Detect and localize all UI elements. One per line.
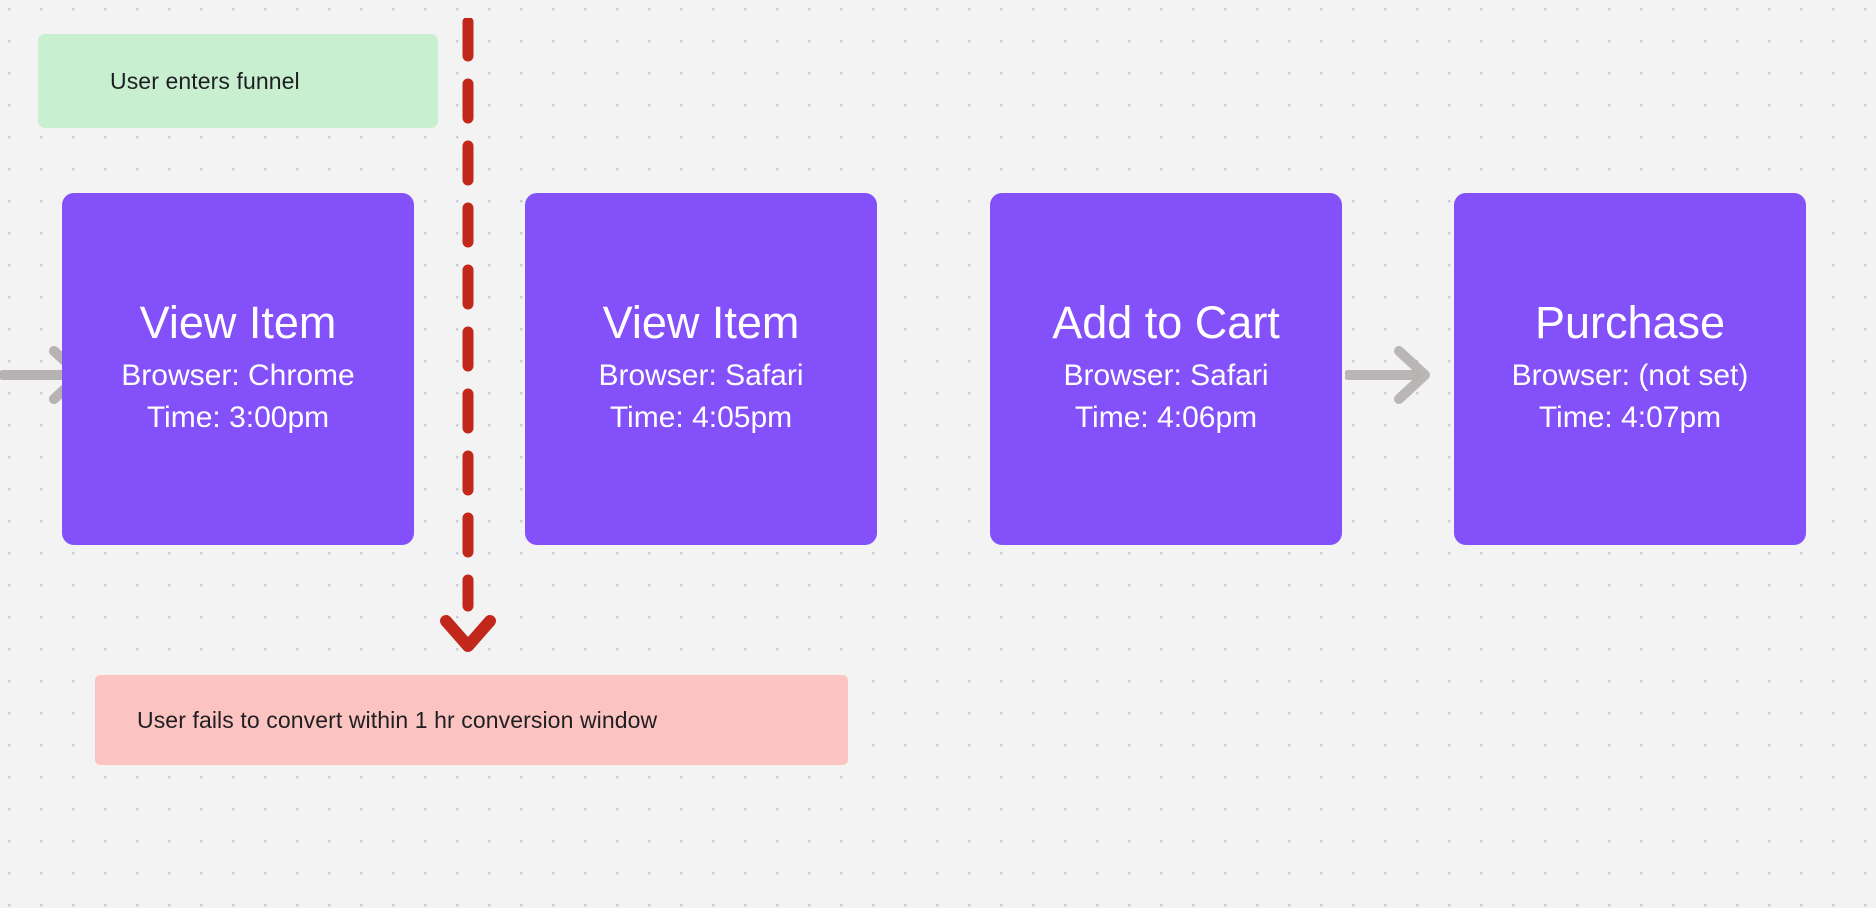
event-card-title: View Item — [603, 298, 800, 348]
diagram-canvas: User enters funnel View Item Browser: Ch… — [0, 0, 1876, 908]
event-card-title: View Item — [140, 298, 337, 348]
event-card-title: Add to Cart — [1052, 298, 1280, 348]
event-card-browser: Browser: Safari — [598, 355, 803, 398]
dropoff-arrow-icon — [432, 18, 504, 668]
event-card-browser: Browser: (not set) — [1512, 355, 1749, 398]
event-card-title: Purchase — [1535, 298, 1725, 348]
dropoff-annotation-box[interactable]: User fails to convert within 1 hr conver… — [95, 675, 848, 765]
entry-annotation-label: User enters funnel — [110, 67, 300, 96]
event-card[interactable]: Purchase Browser: (not set) Time: 4:07pm — [1454, 193, 1806, 545]
dropoff-annotation-label: User fails to convert within 1 hr conver… — [137, 706, 657, 735]
event-card-browser: Browser: Chrome — [121, 355, 354, 398]
event-card-browser: Browser: Safari — [1063, 355, 1268, 398]
event-card-time: Time: 4:07pm — [1539, 397, 1721, 440]
event-card[interactable]: View Item Browser: Chrome Time: 3:00pm — [62, 193, 414, 545]
event-card[interactable]: Add to Cart Browser: Safari Time: 4:06pm — [990, 193, 1342, 545]
event-card[interactable]: View Item Browser: Safari Time: 4:05pm — [525, 193, 877, 545]
event-card-time: Time: 4:05pm — [610, 397, 792, 440]
event-card-time: Time: 3:00pm — [147, 397, 329, 440]
dropoff-connector-arrow — [432, 18, 504, 668]
event-cards-row: View Item Browser: Chrome Time: 3:00pm V… — [0, 193, 1876, 545]
event-card-time: Time: 4:06pm — [1075, 397, 1257, 440]
entry-annotation-box[interactable]: User enters funnel — [38, 34, 438, 128]
